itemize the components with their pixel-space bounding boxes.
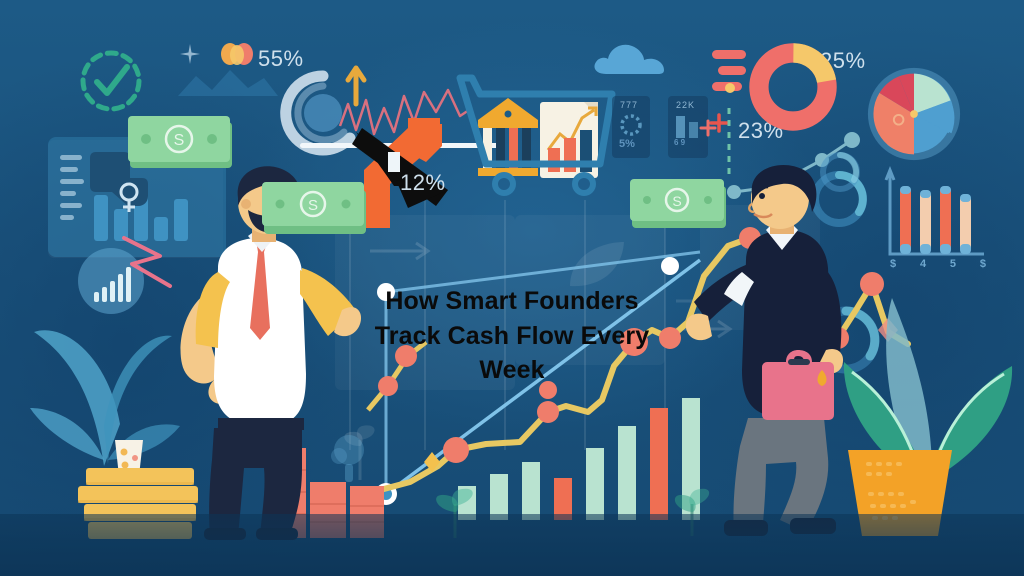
shopping-cart-graphic xyxy=(452,72,614,194)
briefcase-icon xyxy=(760,350,836,424)
up-arrow-icon xyxy=(346,62,366,104)
widget-gauge-label: 777 xyxy=(620,100,638,110)
pin-icon xyxy=(118,182,140,214)
check-circle-icon xyxy=(75,45,147,117)
floor-shadow xyxy=(0,514,1024,576)
page-title: How Smart Founders Track Cash Flow Every… xyxy=(342,284,682,388)
widget-gauge-value: 5% xyxy=(619,138,635,150)
money-bill-left-icon: S xyxy=(128,112,236,174)
widget-bars-value: 6 9 xyxy=(674,138,685,147)
money-bill-held-right: S xyxy=(630,176,730,234)
plus-icon-small xyxy=(700,120,716,136)
title-line-2: Track Cash Flow Every xyxy=(342,319,682,354)
banner-image: S xyxy=(0,0,1024,576)
money-bill-held-left: S xyxy=(262,178,372,242)
title-line-1: How Smart Founders xyxy=(342,284,682,319)
widget-gauge-ring-icon xyxy=(618,112,644,138)
plant-left-illustration xyxy=(30,236,180,486)
pie-chart xyxy=(866,66,962,162)
sparkle-icon xyxy=(180,44,200,64)
svg-text:S: S xyxy=(308,197,318,214)
white-tick-mark xyxy=(388,152,400,172)
stat-55-percent: 55% xyxy=(258,46,304,72)
title-line-3: Week xyxy=(342,353,682,388)
cloud-icon xyxy=(592,40,676,76)
svg-text:S: S xyxy=(174,132,185,149)
donut-chart xyxy=(748,42,838,132)
widget-bars-icon xyxy=(674,112,702,138)
svg-text:S: S xyxy=(672,193,681,209)
widget-bars-label: 22K xyxy=(676,100,695,110)
stat-12-percent: 12% xyxy=(400,170,446,196)
